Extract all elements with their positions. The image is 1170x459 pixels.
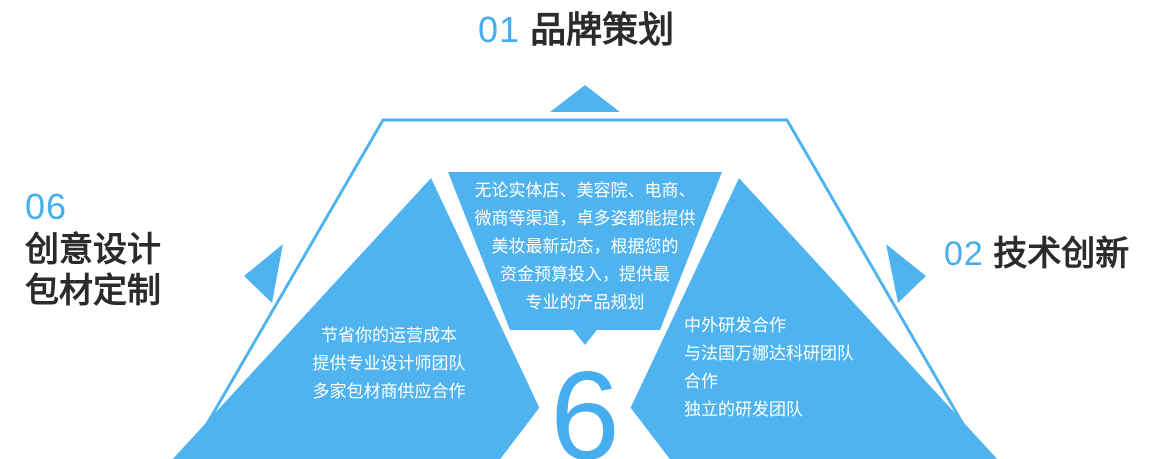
svg-text:资金预算投入，提供最: 资金预算投入，提供最 xyxy=(500,265,670,284)
svg-text:无论实体店、美容院、电商、: 无论实体店、美容院、电商、 xyxy=(475,181,696,200)
svg-text:美妆最新动态，根据您的: 美妆最新动态，根据您的 xyxy=(492,237,679,256)
svg-text:与法国万娜达科研团队: 与法国万娜达科研团队 xyxy=(684,344,854,363)
label-right-number: 02 xyxy=(944,235,984,273)
panel-left-text: 节省你的运营成本 提供专业设计师团队 多家包材商供应合作 xyxy=(313,326,466,401)
pyramid-diagram: 6 无论实体店、美容院、电商、 微商等渠道，卓多姿都能提供 美妆最新动态，根据您… xyxy=(0,0,1170,459)
svg-text:专业的产品规划: 专业的产品规划 xyxy=(526,293,645,312)
infographic-stage: 6 无论实体店、美容院、电商、 微商等渠道，卓多姿都能提供 美妆最新动态，根据您… xyxy=(0,0,1170,459)
arrow-up-icon xyxy=(550,85,620,112)
svg-text:微商等渠道，卓多姿都能提供: 微商等渠道，卓多姿都能提供 xyxy=(475,209,696,228)
arrow-up-right-icon xyxy=(244,244,283,303)
label-left[interactable]: 06 创意设计 包材定制 xyxy=(25,186,161,311)
label-left-line2: 包材定制 xyxy=(25,271,161,311)
label-right[interactable]: 02 技术创新 xyxy=(944,234,1129,275)
svg-text:提供专业设计师团队: 提供专业设计师团队 xyxy=(313,354,466,373)
svg-text:多家包材商供应合作: 多家包材商供应合作 xyxy=(313,382,466,401)
center-number: 6 xyxy=(550,347,620,459)
label-right-title: 技术创新 xyxy=(993,235,1129,273)
label-top-title: 品牌策划 xyxy=(530,9,674,50)
label-left-line1: 创意设计 xyxy=(25,230,161,270)
svg-text:中外研发合作: 中外研发合作 xyxy=(684,316,786,335)
svg-text:节省你的运营成本: 节省你的运营成本 xyxy=(321,326,457,345)
svg-text:独立的研发团队: 独立的研发团队 xyxy=(684,400,803,419)
label-left-number: 06 xyxy=(25,186,161,228)
arrow-up-left-icon xyxy=(886,244,926,303)
svg-text:合作: 合作 xyxy=(684,372,718,391)
label-top-number: 01 xyxy=(478,9,520,50)
label-top[interactable]: 01 品牌策划 xyxy=(478,8,674,52)
